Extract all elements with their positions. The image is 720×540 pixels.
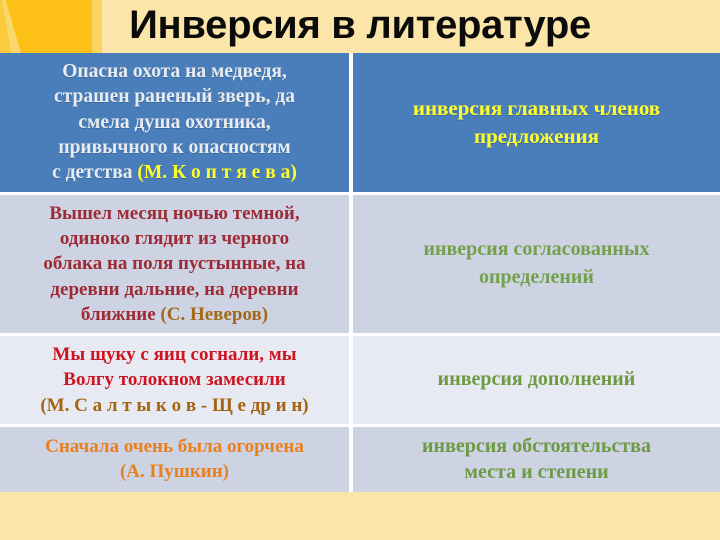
quote-author: (С. Неверов) [160,304,268,325]
quote-line: Сначала очень была огорчена [8,434,341,459]
slide-canvas: Инверсия в литературе Опасна охота на ме… [0,0,720,540]
term-line: предложения [361,122,712,150]
quote-tail: ближние [81,304,161,325]
example-cell: Мы щуку с яиц согнали, мы Волгу толокном… [0,333,353,424]
page-title: Инверсия в литературе [0,0,720,53]
table-row: Опасна охота на медведя, страшен раненый… [0,53,720,192]
inversion-type-cell: инверсия согласованных определений [353,192,720,333]
term-line: инверсия дополнений [361,368,712,391]
quote-line: привычного к опасностям [8,135,341,160]
quote-line: страшен раненый зверь, да [8,84,341,109]
quote-line: одиноко глядит из черного [8,226,341,251]
table-row: Вышел месяц ночью темной, одиноко глядит… [0,192,720,333]
term-line: инверсия обстоятельства [361,433,712,460]
quote-line: смела душа охотника, [8,110,341,135]
term-line: определений [361,264,712,292]
quote-line-with-author: ближние (С. Неверов) [8,302,341,327]
term-line: места и степени [361,459,712,486]
example-cell: Сначала очень была огорчена (А. Пушкин) [0,424,353,492]
quote-author: (А. Пушкин) [8,459,341,484]
example-cell: Вышел месяц ночью темной, одиноко глядит… [0,192,353,333]
inversion-table-container: Опасна охота на медведя, страшен раненый… [0,53,720,540]
quote-line: деревни дальние, на деревни [8,277,341,302]
quote-line: Вышел месяц ночью темной, [8,201,341,226]
table-row: Мы щуку с яиц согнали, мы Волгу толокном… [0,333,720,424]
inversion-type-cell: инверсия дополнений [353,333,720,424]
quote-line: Мы щуку с яиц согнали, мы [8,342,341,367]
table-row: Сначала очень была огорчена (А. Пушкин) … [0,424,720,492]
quote-line-with-author: с детства (М. К о п т я е в а) [8,160,341,185]
inversion-table: Опасна охота на медведя, страшен раненый… [0,53,720,492]
inversion-type-cell: инверсия главных членов предложения [353,53,720,192]
example-cell: Опасна охота на медведя, страшен раненый… [0,53,353,192]
inversion-type-cell: инверсия обстоятельства места и степени [353,424,720,492]
quote-line: Опасна охота на медведя, [8,59,341,84]
quote-author: (М. С а л т ы к о в - Щ е др и н) [8,393,341,418]
quote-line: облака на поля пустынные, на [8,251,341,276]
quote-line: Волгу толокном замесили [8,367,341,392]
quote-author: (М. К о п т я е в а) [137,162,296,183]
quote-tail: с детства [52,162,137,183]
term-line: инверсия согласованных [361,236,712,264]
term-line: инверсия главных членов [361,94,712,122]
